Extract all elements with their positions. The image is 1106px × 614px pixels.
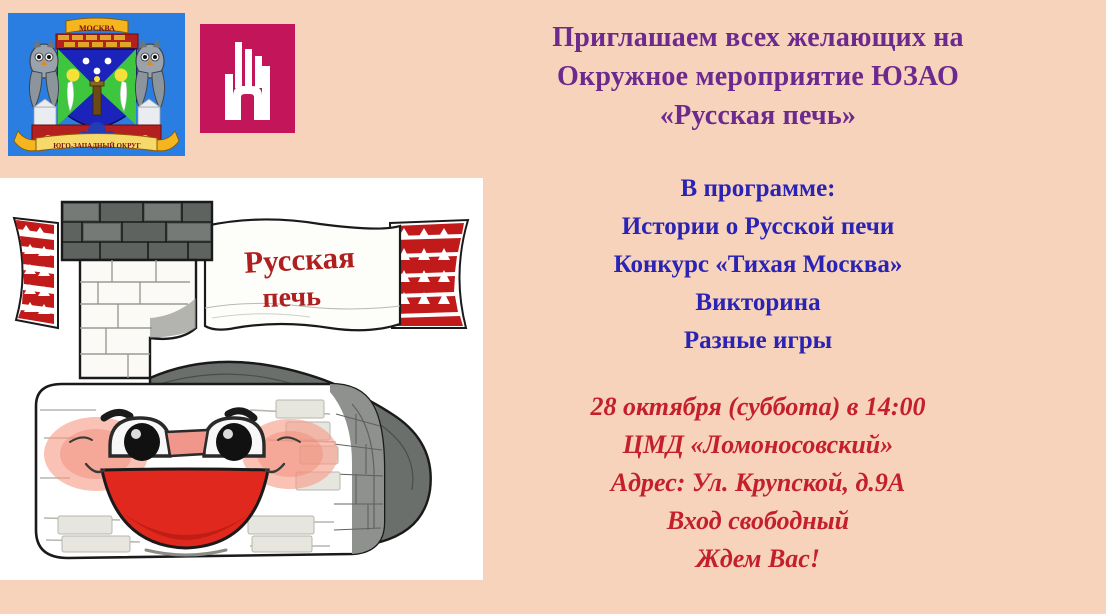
program-section: В программе: Истории о Русской печи Конк…: [410, 170, 1106, 360]
banner-line-1: Русская: [243, 239, 355, 280]
event-address: Адрес: Ул. Крупской, д.9А: [410, 464, 1106, 502]
program-item-3: Викторина: [410, 284, 1106, 322]
program-item-1: Истории о Русской печи: [410, 208, 1106, 246]
event-closing: Ждем Вас!: [410, 540, 1106, 578]
title-line-1: Приглашаем всех желающих на: [410, 18, 1106, 57]
event-entry: Вход свободный: [410, 502, 1106, 540]
event-date-time: 28 октября (суббота) в 14:00: [410, 388, 1106, 426]
poster-title: Приглашаем всех желающих на Окружное мер…: [410, 18, 1106, 135]
coat-of-arms-logo: МОСКВА: [8, 13, 185, 156]
svg-text:ЮГО-ЗАПАДНЫЙ ОКРУГ: ЮГО-ЗАПАДНЫЙ ОКРУГ: [53, 142, 141, 150]
event-details: 28 октября (суббота) в 14:00 ЦМД «Ломоно…: [410, 388, 1106, 578]
title-line-3: «Русская печь»: [410, 96, 1106, 135]
svg-text:МОСКВА: МОСКВА: [79, 24, 115, 33]
program-item-2: Конкурс «Тихая Москва»: [410, 246, 1106, 284]
cmd-logo: [200, 24, 295, 133]
event-venue: ЦМД «Ломоносовский»: [410, 426, 1106, 464]
program-heading: В программе:: [410, 170, 1106, 208]
event-poster: МОСКВА: [0, 0, 1106, 614]
title-line-2: Окружное мероприятие ЮЗАО: [410, 57, 1106, 96]
program-item-4: Разные игры: [410, 322, 1106, 360]
banner-line-2: печь: [262, 281, 322, 314]
text-column: Приглашаем всех желающих на Окружное мер…: [410, 0, 1106, 614]
coat-of-arms-icon: МОСКВА: [8, 13, 185, 156]
tower-mark-icon: [200, 24, 295, 133]
